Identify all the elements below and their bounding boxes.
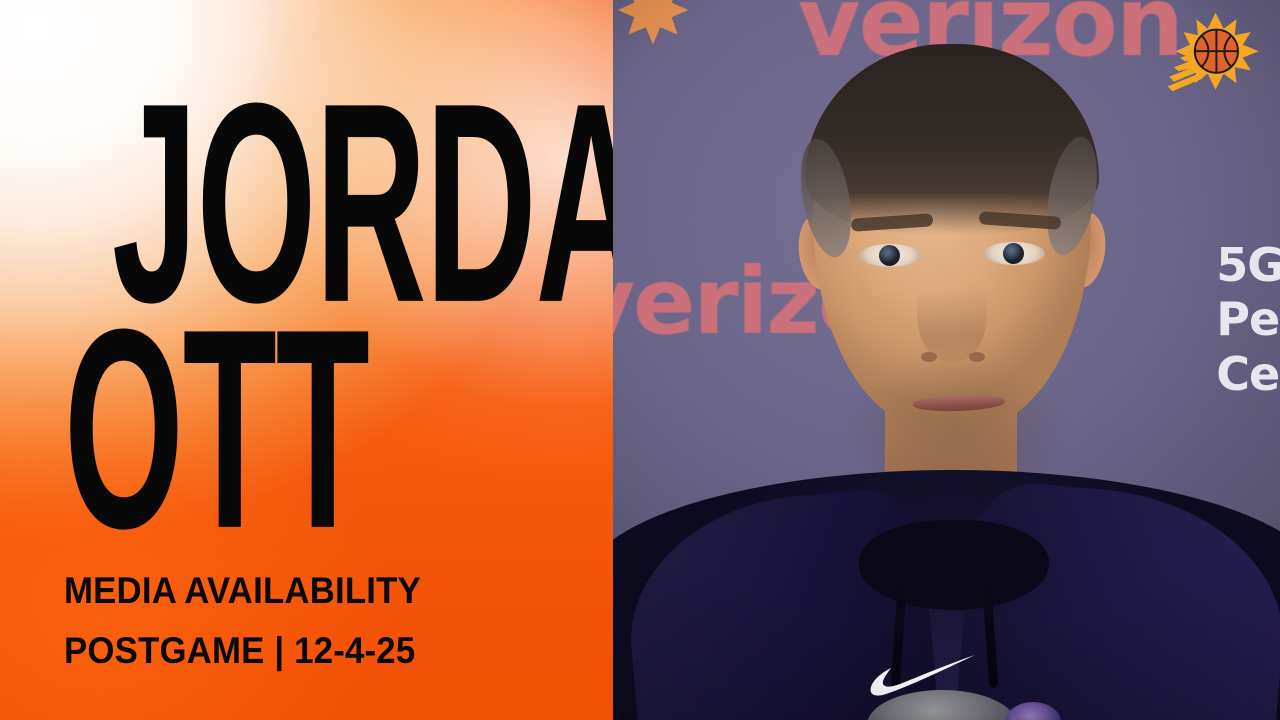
phoenix-suns-logo [1166, 8, 1262, 104]
photo-vignette [613, 0, 1280, 720]
title-card: JORDAN OTT MEDIA AVAILABILITY POSTGAME |… [0, 0, 1280, 720]
title-panel: JORDAN OTT MEDIA AVAILABILITY POSTGAME |… [0, 0, 613, 720]
subject-photo: verizon verizon 5GPeCe [613, 0, 1280, 720]
subtitle-line-2: POSTGAME | 12-4-25 [64, 630, 415, 672]
last-name-text: OTT [64, 318, 369, 540]
subtitle-line-1: MEDIA AVAILABILITY [64, 570, 421, 612]
name-block: JORDAN OTT [0, 0, 613, 720]
